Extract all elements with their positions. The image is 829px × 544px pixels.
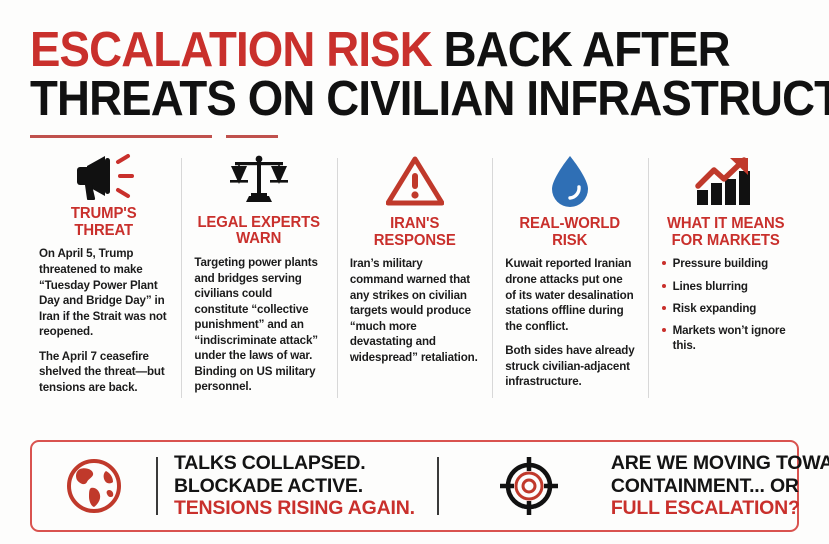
bottom-banner: TALKS COLLAPSED. BLOCKADE ACTIVE. TENSIO…: [30, 440, 799, 532]
warning-triangle-icon: [386, 152, 444, 210]
column-paragraph: On April 5, Trump threatened to make “Tu…: [39, 246, 168, 339]
column-heading: LEGAL EXPERTS WARN: [197, 215, 321, 248]
column-heading: REAL-WORLD RISK: [508, 216, 632, 249]
column-paragraph: Iran’s military command warned that any …: [350, 256, 479, 365]
bar-chart-up-icon: [694, 152, 756, 210]
title-line-1: ESCALATION RISK BACK AFTER: [30, 26, 749, 75]
banner-left-text: TALKS COLLAPSED. BLOCKADE ACTIVE. TENSIO…: [174, 452, 415, 520]
banner-divider-hidden: [591, 457, 595, 515]
scales-of-justice-icon: [229, 152, 289, 209]
banner-left-line-3: TENSIONS RISING AGAIN.: [174, 497, 415, 520]
column-irans-response: IRAN'S RESPONSE Iran’s military command …: [337, 152, 492, 404]
globe-icon: [48, 457, 140, 515]
column-real-world-risk: REAL-WORLD RISK Kuwait reported Iranian …: [492, 152, 647, 404]
infographic-page: ESCALATION RISK BACK AFTER THREATS ON CI…: [0, 0, 829, 544]
column-paragraph: Targeting power plants and bridges servi…: [194, 255, 323, 395]
banner-divider-right: [437, 457, 439, 515]
columns-container: TRUMP'S THREAT On April 5, Trump threate…: [26, 152, 803, 404]
banner-right-line-1: ARE WE MOVING TOWARD: [611, 452, 829, 475]
title-highlight: ESCALATION RISK: [30, 23, 432, 77]
list-item: Pressure building: [661, 256, 790, 271]
column-body: Iran’s military command warned that any …: [350, 256, 479, 374]
column-body: Pressure building Lines blurring Risk ex…: [661, 256, 790, 359]
water-droplet-icon: [548, 152, 592, 210]
banner-left-line-1: TALKS COLLAPSED.: [174, 452, 415, 475]
title-divider: [30, 135, 803, 138]
title-line-2: THREATS ON CIVILIAN INFRASTRUCTURE: [30, 75, 749, 124]
column-paragraph: Both sides have already struck civilian-…: [505, 343, 634, 390]
title-line-1-rest: BACK AFTER: [432, 23, 730, 77]
column-heading: TRUMP'S THREAT: [42, 206, 166, 239]
column-body: On April 5, Trump threatened to make “Tu…: [39, 246, 168, 404]
page-title: ESCALATION RISK BACK AFTER THREATS ON CI…: [30, 26, 803, 123]
column-body: Kuwait reported Iranian drone attacks pu…: [505, 256, 634, 398]
megaphone-icon: [71, 152, 137, 200]
list-item: Lines blurring: [661, 279, 790, 294]
banner-left-line-2: BLOCKADE ACTIVE.: [174, 475, 415, 498]
column-paragraph: The April 7 ceasefire shelved the threat…: [39, 349, 168, 396]
banner-left-half: TALKS COLLAPSED. BLOCKADE ACTIVE. TENSIO…: [48, 452, 455, 520]
list-item: Markets won’t ignore this.: [661, 323, 790, 353]
banner-right-half: ARE WE MOVING TOWARD CONTAINMENT... OR F…: [455, 452, 829, 520]
column-trumps-threat: TRUMP'S THREAT On April 5, Trump threate…: [26, 152, 181, 404]
column-what-it-means-for-markets: WHAT IT MEANS FOR MARKETS Pressure build…: [648, 152, 803, 404]
banner-divider-left: [156, 457, 158, 515]
crosshair-target-icon: [483, 455, 575, 517]
column-heading: IRAN'S RESPONSE: [352, 216, 476, 249]
banner-right-text: ARE WE MOVING TOWARD CONTAINMENT... OR F…: [611, 452, 829, 520]
markets-bullet-list: Pressure building Lines blurring Risk ex…: [661, 256, 790, 352]
title-rule-short: [226, 135, 278, 138]
title-rule-long: [30, 135, 212, 138]
column-heading: WHAT IT MEANS FOR MARKETS: [663, 216, 787, 249]
column-legal-experts-warn: LEGAL EXPERTS WARN Targeting power plant…: [181, 152, 336, 404]
list-item: Risk expanding: [661, 301, 790, 316]
column-body: Targeting power plants and bridges servi…: [194, 255, 323, 404]
column-paragraph: Kuwait reported Iranian drone attacks pu…: [505, 256, 634, 334]
banner-right-line-3: FULL ESCALATION?: [611, 497, 829, 520]
banner-right-line-2: CONTAINMENT... OR: [611, 475, 829, 498]
